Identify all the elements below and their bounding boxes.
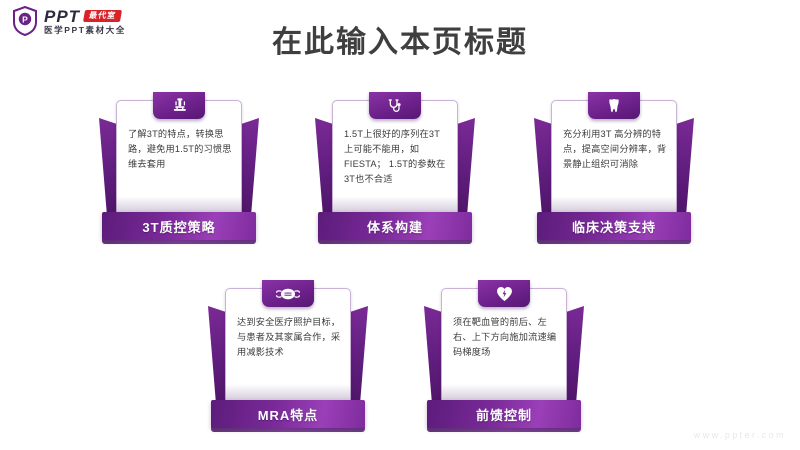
paper-shadow <box>225 384 351 400</box>
paper-shadow <box>332 196 458 212</box>
card-body-text: 了解3T的特点，转换思路，避免用1.5T的习惯思维去套用 <box>128 127 233 172</box>
info-card[interactable]: 充分利用3T 高分辨的特点，提高空间分辨率，背景静止组织可消除 临床决策支持 <box>534 80 694 240</box>
card-label-band[interactable]: 体系构建 <box>318 212 472 240</box>
heart-pulse-icon[interactable] <box>478 280 530 307</box>
card-body-text: 达到安全医疗照护目标，与患者及其家属合作，采用减影技术 <box>237 315 342 360</box>
tooth-icon[interactable] <box>588 92 640 119</box>
site-watermark: www.ppter.com <box>694 430 786 440</box>
card-body-text: 须在靶血管的前后、左右、上下方向施加流速编码梯度场 <box>453 315 558 360</box>
card-label: 临床决策支持 <box>572 217 656 236</box>
card-label: 前馈控制 <box>476 405 532 424</box>
info-card[interactable]: 达到安全医疗照护目标，与患者及其家属合作，采用减影技术 MRA特点 <box>208 268 368 428</box>
card-label: 3T质控策略 <box>142 217 215 236</box>
paper-shadow <box>551 196 677 212</box>
card-label-band[interactable]: 临床决策支持 <box>537 212 691 240</box>
card-label: MRA特点 <box>258 405 319 424</box>
card-label-band[interactable]: MRA特点 <box>211 400 365 428</box>
paper-shadow <box>441 384 567 400</box>
info-card[interactable]: 了解3T的特点，转换思路，避免用1.5T的习惯思维去套用 3T质控策略 <box>99 80 259 240</box>
stethoscope-icon[interactable] <box>369 92 421 119</box>
card-label-band[interactable]: 前馈控制 <box>427 400 581 428</box>
info-card[interactable]: 须在靶血管的前后、左右、上下方向施加流速编码梯度场 前馈控制 <box>424 268 584 428</box>
paper-shadow <box>116 196 242 212</box>
page-title: 在此输入本页标题 <box>0 17 800 61</box>
card-label-band[interactable]: 3T质控策略 <box>102 212 256 240</box>
card-label: 体系构建 <box>367 217 423 236</box>
info-card[interactable]: 1.5T上很好的序列在3T上可能不能用，如FIESTA； 1.5T的参数在3T也… <box>315 80 475 240</box>
microscope-icon[interactable] <box>153 92 205 119</box>
card-body-text: 1.5T上很好的序列在3T上可能不能用，如FIESTA； 1.5T的参数在3T也… <box>344 127 449 187</box>
card-body-text: 充分利用3T 高分辨的特点，提高空间分辨率，背景静止组织可消除 <box>563 127 668 172</box>
face-mask-icon[interactable] <box>262 280 314 307</box>
